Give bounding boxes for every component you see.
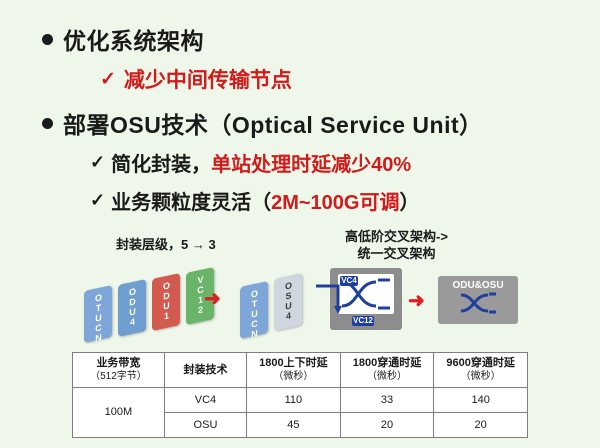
table-header-cell-4: 1800穿通时延 （微秒） bbox=[340, 353, 434, 388]
table-header-cell-2-main: 封装技术 bbox=[166, 364, 245, 377]
bullet-2-item-2: ✓ 业务颗粒度灵活（2M~100G可调） bbox=[90, 186, 419, 215]
table-cell-bandwidth: 100M bbox=[73, 388, 165, 438]
crossconnect-after-label: ODU&OSU bbox=[438, 276, 518, 291]
bullet-1: 优化系统架构 bbox=[42, 22, 204, 56]
stack-before-block-3: ODU1 bbox=[152, 273, 180, 331]
table-header-cell-3: 1800上下时延 （微秒） bbox=[247, 353, 341, 388]
table-header-cell-4-main: 1800穿通时延 bbox=[342, 357, 433, 370]
table-row: 100M VC4 110 33 140 bbox=[73, 388, 528, 413]
diagram-left-label: 封装层级，5 → 3 bbox=[116, 234, 216, 253]
table-cell-1800thru-1: 33 bbox=[340, 388, 434, 413]
bullet-2-item-2-plain: 业务颗粒度灵活（ bbox=[111, 192, 271, 214]
arrow-right-icon-2: ➜ bbox=[408, 288, 425, 313]
arrow-right-icon-1: ➜ bbox=[204, 286, 221, 311]
table-header-cell-5-main: 9600穿通时延 bbox=[435, 357, 526, 370]
table-header-cell-1-main: 业务带宽 bbox=[74, 357, 163, 370]
bullet-1-sub-text: 减少中间传输节点 bbox=[124, 64, 292, 94]
diagram-right-label-line2: 统一交叉架构 bbox=[345, 245, 448, 262]
diagram-right-label: 高低阶交叉架构-> 统一交叉架构 bbox=[345, 228, 448, 262]
stack-after-block-1-label: OTUCN bbox=[250, 288, 259, 340]
bullet-1-sub: ✓ 减少中间传输节点 bbox=[100, 64, 292, 94]
crossconnect-after-box: ODU&OSU bbox=[438, 276, 518, 324]
stack-before-block-3-label: ODU1 bbox=[162, 280, 171, 322]
cross-connect-after-icon bbox=[458, 291, 498, 315]
table-cell-1800up-1: 110 bbox=[247, 388, 341, 413]
table-header-cell-3-main: 1800上下时延 bbox=[248, 357, 339, 370]
latency-table: 业务带宽 （512字节） 封装技术 1800上下时延 （微秒） 1800穿通时延… bbox=[72, 352, 528, 438]
flow-arrow-blue-icon bbox=[314, 280, 344, 320]
bullet-dot-icon bbox=[42, 34, 53, 45]
bullet-2-item-2-highlight: 2M~100G可调 bbox=[271, 192, 399, 214]
stack-before-block-1-label: OTUCN bbox=[94, 292, 103, 344]
check-icon: ✓ bbox=[90, 152, 105, 173]
slide-root: 优化系统架构 ✓ 减少中间传输节点 部署OSU技术（Optical Servic… bbox=[0, 0, 600, 448]
check-icon: ✓ bbox=[90, 190, 105, 211]
check-icon: ✓ bbox=[100, 68, 116, 91]
table-cell-9600thru-2: 20 bbox=[434, 413, 528, 438]
table-header-cell-5: 9600穿通时延 （微秒） bbox=[434, 353, 528, 388]
bullet-2-item-1-plain: 简化封装， bbox=[111, 154, 211, 176]
table-header-cell-3-sub: （微秒） bbox=[248, 370, 339, 383]
table-header-cell-5-sub: （微秒） bbox=[435, 370, 526, 383]
stack-before-block-1: OTUCN bbox=[84, 285, 112, 343]
bullet-2-title: 部署OSU技术（Optical Service Unit） bbox=[63, 106, 483, 140]
table-header-cell-1: 业务带宽 （512字节） bbox=[73, 353, 165, 388]
table-cell-1800up-2: 45 bbox=[247, 413, 341, 438]
table-header-cell-2: 封装技术 bbox=[164, 353, 246, 388]
table-cell-1800thru-2: 20 bbox=[340, 413, 434, 438]
table-header-cell-1-sub: （512字节） bbox=[74, 370, 163, 383]
bullet-2-item-1-highlight: 单站处理时延减少40% bbox=[211, 154, 411, 176]
bullet-1-title: 优化系统架构 bbox=[63, 22, 204, 56]
table-cell-tech-2: OSU bbox=[164, 413, 246, 438]
bullet-2: 部署OSU技术（Optical Service Unit） bbox=[42, 106, 483, 140]
table-header-cell-4-sub: （微秒） bbox=[342, 370, 433, 383]
stack-after-block-1: OTUCN bbox=[240, 281, 268, 339]
table-header-row: 业务带宽 （512字节） 封装技术 1800上下时延 （微秒） 1800穿通时延… bbox=[73, 353, 528, 388]
bullet-2-item-2-tail: ） bbox=[399, 192, 419, 214]
bullet-2-item-1: ✓ 简化封装，单站处理时延减少40% bbox=[90, 148, 411, 177]
stack-after-block-2-label: OSU4 bbox=[284, 280, 293, 322]
stack-after-block-2: OSU4 bbox=[274, 273, 302, 331]
table-cell-tech-1: VC4 bbox=[164, 388, 246, 413]
bullet-dot-icon bbox=[42, 118, 53, 129]
stack-before-block-2: ODU4 bbox=[118, 279, 146, 337]
diagram-right-label-line1: 高低阶交叉架构-> bbox=[345, 228, 448, 245]
table-cell-9600thru-1: 140 bbox=[434, 388, 528, 413]
crossconnect-vc12-label: VC12 bbox=[352, 316, 374, 326]
stack-before-block-2-label: ODU4 bbox=[128, 286, 137, 328]
